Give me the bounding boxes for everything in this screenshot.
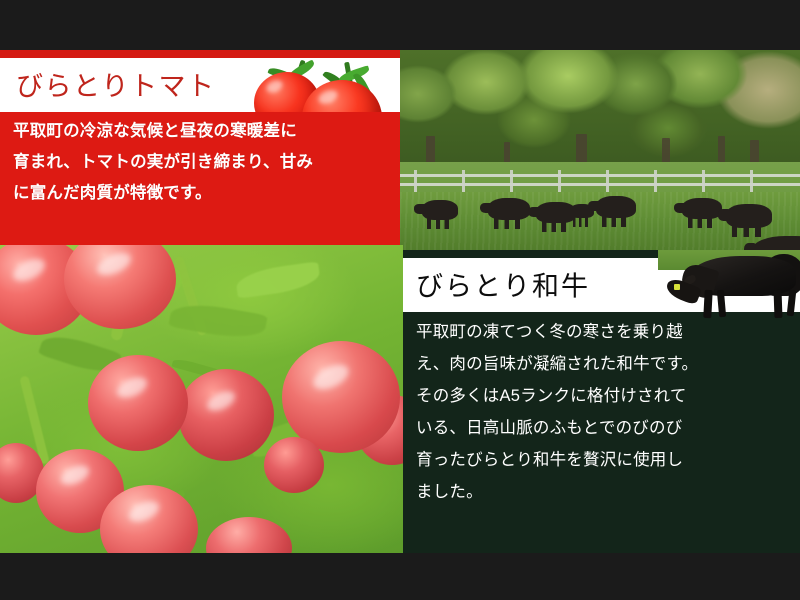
pasture-cow: [488, 198, 530, 220]
tomato-panel-top-strip: [0, 50, 400, 58]
cattle-pasture-photo: [400, 50, 800, 250]
wagyu-description-line: いる、日高山脈のふもとでのびのび: [416, 412, 792, 444]
vine-leaf: [168, 299, 267, 343]
wagyu-description-line: その多くはA5ランクに格付けされて: [416, 380, 792, 412]
promo-banner: びらとりトマト 平取町の冷涼な気候と昼夜の寒暖差に 育まれ、トマトの実が引き締ま…: [0, 0, 800, 600]
pasture-cow: [726, 204, 772, 228]
vine-tomato: [178, 369, 274, 461]
pasture-cow: [536, 202, 576, 223]
wagyu-description-line: 平取町の凍てつく冬の寒さを乗り越: [416, 316, 792, 348]
pasture-cow: [682, 198, 722, 219]
cow-ear-tag: [674, 284, 680, 290]
wagyu-info-panel: びらとり和牛 平取町の凍てつく冬の寒さを乗り越 え、肉の旨味が凝縮された和牛です…: [403, 250, 800, 553]
vine-tomato: [88, 355, 188, 451]
tomato-title-band: びらとりトマト: [0, 58, 400, 112]
tomato-description-line: 平取町の冷涼な気候と昼夜の寒暖差に: [13, 116, 392, 147]
tomato-info-panel: びらとりトマト 平取町の冷涼な気候と昼夜の寒暖差に 育まれ、トマトの実が引き締ま…: [0, 50, 400, 246]
fence-rail: [400, 174, 800, 177]
tomato-pair-icon: [246, 58, 400, 112]
wagyu-description: 平取町の凍てつく冬の寒さを乗り越 え、肉の旨味が凝縮された和牛です。 その多くは…: [403, 312, 800, 553]
wagyu-section-title: びらとり和牛: [416, 265, 590, 304]
fence-rail: [400, 183, 800, 186]
vine-tomato: [206, 517, 292, 553]
tomato-description-line: 育まれ、トマトの実が引き締まり、甘み: [13, 147, 392, 178]
wagyu-title-band: びらとり和牛: [403, 258, 800, 312]
vine-tomato: [282, 341, 400, 453]
tomato-vine-photo: [0, 245, 403, 553]
tomato-description: 平取町の冷涼な気候と昼夜の寒暖差に 育まれ、トマトの実が引き締まり、甘み に富ん…: [0, 112, 400, 246]
vine-tomato: [264, 437, 324, 493]
tomato-description-line: に富んだ肉質が特徴です。: [13, 178, 392, 209]
pasture-cow: [596, 196, 636, 218]
tomato-section-title: びらとりトマト: [16, 65, 216, 104]
tree-canopy: [400, 50, 800, 166]
wagyu-description-line: え、肉の旨味が凝縮された和牛です。: [416, 348, 792, 380]
pasture-cow: [422, 200, 458, 220]
vine-leaf: [235, 261, 322, 298]
wagyu-description-line: 育ったびらとり和牛を贅沢に使用し: [416, 444, 792, 476]
wagyu-description-line: ました。: [416, 476, 792, 508]
